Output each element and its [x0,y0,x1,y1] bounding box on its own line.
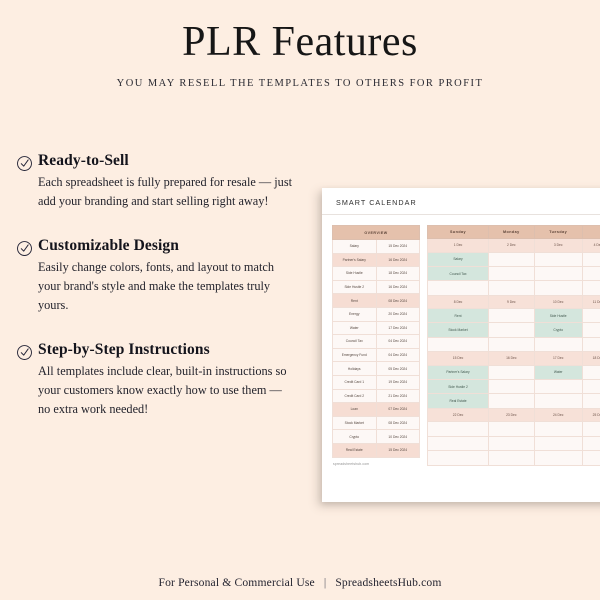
circled-check-icon [16,155,33,172]
calendar-empty-cell[interactable] [489,422,534,436]
overview-row-label: Real Estate [333,443,377,457]
feature-item-ready-to-sell: Ready-to-Sell Each spreadsheet is fully … [14,152,314,210]
feature-list: Ready-to-Sell Each spreadsheet is fully … [14,152,314,446]
calendar-date-cell[interactable]: 9 Dec [489,295,534,309]
calendar-empty-cell[interactable] [428,436,489,450]
calendar-empty-cell[interactable] [534,266,582,280]
spreadsheet-body: OVERVIEW Salary15 Dec 2024Partner's Sala… [322,215,600,466]
calendar-event-cell[interactable]: Water [534,365,582,379]
overview-row-label: Credit Card 2 [333,389,377,403]
calendar-empty-cell[interactable] [582,450,600,465]
overview-row-label: Council Tax [333,335,377,349]
calendar-empty-cell[interactable] [428,422,489,436]
overview-row-label: Side Hustle [333,267,377,281]
watermark-text: spreadsheetshub.com [322,458,420,466]
overview-row: Side Hustle18 Dec 2024 [333,267,420,281]
overview-row: Water17 Dec 2024 [333,321,420,335]
overview-row-date: 15 Dec 2024 [376,240,420,254]
calendar-empty-cell[interactable] [489,252,534,266]
calendar-date-cell[interactable]: 11 Dec [582,295,600,309]
overview-row-label: Energy [333,307,377,321]
overview-row: Crypto10 Dec 2024 [333,430,420,444]
calendar-date-cell[interactable]: 1 Dec [428,239,489,253]
calendar-empty-cell[interactable] [582,365,600,379]
calendar-empty-cell[interactable] [534,436,582,450]
footer-separator: | [319,576,331,589]
overview-row-date: 21 Dec 2024 [376,389,420,403]
calendar-event-cell[interactable]: Rent [428,309,489,323]
overview-row-label: Emergency Fund [333,348,377,362]
calendar-date-cell[interactable]: 18 Dec [582,352,600,366]
overview-header-row: OVERVIEW [333,226,420,240]
overview-row: Rent08 Dec 2024 [333,294,420,308]
calendar-date-cell[interactable]: 3 Dec [534,239,582,253]
overview-row-label: Water [333,321,377,335]
feature-title: Ready-to-Sell [38,152,314,170]
calendar-date-cell[interactable]: 8 Dec [428,295,489,309]
overview-row: Holidays05 Dec 2024 [333,362,420,376]
overview-row: Stock Market08 Dec 2024 [333,416,420,430]
overview-row-date: 20 Dec 2024 [376,307,420,321]
overview-row-label: Loan [333,403,377,417]
calendar-event-row: Side Hustle 2 [428,380,600,394]
calendar-empty-cell[interactable] [582,281,600,295]
feature-item-customizable-design: Customizable Design Easily change colors… [14,237,314,314]
calendar-empty-cell[interactable] [534,252,582,266]
overview-table: OVERVIEW Salary15 Dec 2024Partner's Sala… [332,225,420,458]
plr-features-page: PLR Features YOU MAY RESELL THE TEMPLATE… [0,0,600,600]
overview-row-label: Salary [333,240,377,254]
calendar-empty-cell[interactable] [489,337,534,351]
overview-row-label: Crypto [333,430,377,444]
calendar-header-row: SundayMondayTuesday [428,226,600,239]
calendar-empty-cell[interactable] [534,422,582,436]
overview-row: Partner's Salary16 Dec 2024 [333,253,420,267]
calendar-date-row: 15 Dec16 Dec17 Dec18 Dec [428,352,600,366]
calendar-empty-cell[interactable] [489,436,534,450]
calendar-empty-cell[interactable] [428,281,489,295]
calendar-event-row: Salary [428,252,600,266]
overview-row-date: 16 Dec 2024 [376,253,420,267]
calendar-empty-cell[interactable] [489,309,534,323]
overview-row-date: 07 Dec 2024 [376,403,420,417]
calendar-empty-cell[interactable] [582,422,600,436]
calendar-date-cell[interactable]: 15 Dec [428,352,489,366]
calendar-empty-cell[interactable] [489,365,534,379]
calendar-event-row [428,422,600,436]
overview-row-date: 04 Dec 2024 [376,348,420,362]
calendar-event-row: Partner's SalaryWater [428,365,600,379]
footer-brand: SpreadsheetsHub.com [335,576,441,589]
feature-title: Customizable Design [38,237,314,255]
overview-row: Council Tax04 Dec 2024 [333,335,420,349]
overview-row: Credit Card 221 Dec 2024 [333,389,420,403]
overview-row-date: 18 Dec 2024 [376,267,420,281]
calendar-date-row: 8 Dec9 Dec10 Dec11 Dec [428,295,600,309]
spreadsheet-mockup-card: SMART CALENDAR OVERVIEW Salary15 Dec 202… [322,188,600,502]
overview-row-date: 19 Dec 2024 [376,375,420,389]
calendar-event-row [428,281,600,295]
overview-row: Loan07 Dec 2024 [333,403,420,417]
feature-title: Step-by-Step Instructions [38,341,314,359]
calendar-grid: SundayMondayTuesday 1 Dec2 Dec3 Dec4 Dec… [427,225,600,466]
feature-item-step-by-step-instructions: Step-by-Step Instructions All templates … [14,341,314,418]
calendar-empty-cell[interactable] [582,309,600,323]
calendar-empty-cell[interactable] [534,394,582,408]
calendar-empty-cell[interactable] [582,266,600,280]
calendar-empty-cell[interactable] [534,450,582,465]
calendar-empty-cell[interactable] [428,450,489,465]
calendar-empty-cell[interactable] [534,337,582,351]
calendar-empty-cell[interactable] [489,450,534,465]
calendar-event-row: Council Tax [428,266,600,280]
overview-row-date: 04 Dec 2024 [376,335,420,349]
calendar-event-row: Real Estate [428,394,600,408]
calendar-empty-cell[interactable] [582,394,600,408]
calendar-event-cell[interactable]: Stock Market [428,323,489,337]
calendar-empty-cell[interactable] [534,281,582,295]
calendar-date-cell[interactable]: 23 Dec [489,408,534,422]
calendar-event-cell[interactable]: Salary [428,252,489,266]
footer-usage: For Personal & Commercial Use [158,576,314,589]
overview-row-label: Partner's Salary [333,253,377,267]
calendar-event-cell[interactable]: Side Hustle 2 [428,380,489,394]
calendar-date-cell[interactable]: 16 Dec [489,352,534,366]
feature-description: Easily change colors, fonts, and layout … [38,258,296,314]
calendar-empty-cell[interactable] [534,380,582,394]
calendar-date-cell[interactable]: 4 Dec [582,239,600,253]
calendar-event-row: RentSide Hustle [428,309,600,323]
overview-panel: OVERVIEW Salary15 Dec 2024Partner's Sala… [322,225,420,466]
calendar-empty-cell[interactable] [489,281,534,295]
calendar-empty-cell[interactable] [489,266,534,280]
spreadsheet-title: SMART CALENDAR [322,188,600,215]
calendar-event-row [428,436,600,450]
calendar-event-row: Stock MarketCrypto [428,323,600,337]
calendar-empty-cell[interactable] [489,380,534,394]
feature-description: Each spreadsheet is fully prepared for r… [38,173,296,210]
calendar-day-header: Sunday [428,226,489,239]
feature-description: All templates include clear, built-in in… [38,362,296,418]
overview-row-label: Holidays [333,362,377,376]
overview-row-date: 15 Dec 2024 [376,443,420,457]
calendar-date-row: 22 Dec23 Dec24 Dec25 Dec [428,408,600,422]
overview-row-label: Rent [333,294,377,308]
calendar-date-cell[interactable]: 24 Dec [534,408,582,422]
overview-row: Salary15 Dec 2024 [333,240,420,254]
calendar-empty-cell[interactable] [582,436,600,450]
calendar-empty-cell[interactable] [428,337,489,351]
overview-row: Credit Card 119 Dec 2024 [333,375,420,389]
calendar-empty-cell[interactable] [582,323,600,337]
calendar-event-cell[interactable]: Real Estate [428,394,489,408]
overview-row: Emergency Fund04 Dec 2024 [333,348,420,362]
page-subtitle: YOU MAY RESELL THE TEMPLATES TO OTHERS F… [0,66,600,89]
calendar-day-header: Monday [489,226,534,239]
calendar-date-cell[interactable]: 25 Dec [582,408,600,422]
calendar-event-row [428,450,600,465]
page-footer: For Personal & Commercial Use | Spreadsh… [0,573,600,600]
calendar-day-header: Tuesday [534,226,582,239]
page-header: PLR Features YOU MAY RESELL THE TEMPLATE… [0,0,600,89]
circled-check-icon [16,344,33,361]
calendar-event-cell[interactable]: Side Hustle [534,309,582,323]
overview-header: OVERVIEW [333,226,420,240]
calendar-date-cell[interactable]: 10 Dec [534,295,582,309]
calendar-date-row: 1 Dec2 Dec3 Dec4 Dec [428,239,600,253]
circled-check-icon [16,240,33,257]
calendar-date-cell[interactable]: 22 Dec [428,408,489,422]
overview-row-date: 08 Dec 2024 [376,294,420,308]
calendar-date-cell[interactable]: 2 Dec [489,239,534,253]
overview-row: Real Estate15 Dec 2024 [333,443,420,457]
overview-row-date: 16 Dec 2024 [376,280,420,294]
overview-row-label: Stock Market [333,416,377,430]
calendar-empty-cell[interactable] [582,380,600,394]
calendar-empty-cell[interactable] [489,394,534,408]
calendar-day-header [582,226,600,239]
calendar-empty-cell[interactable] [582,337,600,351]
overview-row-date: 05 Dec 2024 [376,362,420,376]
calendar-event-cell[interactable]: Partner's Salary [428,365,489,379]
overview-row: Side Hustle 216 Dec 2024 [333,280,420,294]
calendar-event-cell[interactable]: Crypto [534,323,582,337]
overview-row-date: 10 Dec 2024 [376,430,420,444]
calendar-event-row [428,337,600,351]
overview-row-date: 08 Dec 2024 [376,416,420,430]
overview-row-label: Credit Card 1 [333,375,377,389]
page-title: PLR Features [0,0,600,66]
overview-row-label: Side Hustle 2 [333,280,377,294]
calendar-empty-cell[interactable] [582,252,600,266]
calendar-empty-cell[interactable] [489,323,534,337]
calendar-date-cell[interactable]: 17 Dec [534,352,582,366]
overview-row-date: 17 Dec 2024 [376,321,420,335]
calendar-event-cell[interactable]: Council Tax [428,266,489,280]
overview-row: Energy20 Dec 2024 [333,307,420,321]
